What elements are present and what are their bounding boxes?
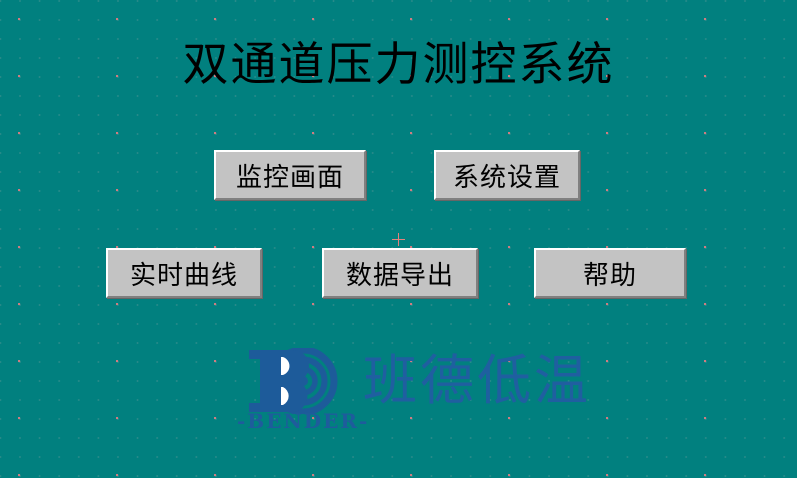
bender-b-monogram-icon bbox=[243, 348, 349, 414]
button-data-export-label: 数据导出 bbox=[346, 255, 454, 292]
button-system-settings[interactable]: 系统设置 bbox=[434, 150, 580, 200]
company-logo: -BENDER- 班德低温 bbox=[243, 348, 573, 438]
button-help[interactable]: 帮助 bbox=[534, 248, 686, 298]
button-monitor-screen[interactable]: 监控画面 bbox=[214, 150, 366, 200]
button-realtime-curve-label: 实时曲线 bbox=[130, 255, 238, 292]
company-name-cn: 班德低温 bbox=[363, 350, 591, 412]
page-title: 双通道压力测控系统 bbox=[0, 37, 797, 91]
button-system-settings-label: 系统设置 bbox=[453, 157, 561, 194]
crosshair-cursor-icon bbox=[392, 233, 405, 246]
button-monitor-screen-label: 监控画面 bbox=[236, 157, 344, 194]
button-data-export[interactable]: 数据导出 bbox=[322, 248, 478, 298]
crosshair-horizontal-bar bbox=[392, 239, 405, 240]
button-help-label: 帮助 bbox=[583, 255, 637, 292]
hmi-main-screen: 双通道压力测控系统 监控画面 系统设置 实时曲线 数据导出 帮助 bbox=[0, 0, 797, 478]
crosshair-vertical-bar bbox=[398, 233, 399, 246]
logo-wordmark: -BENDER- bbox=[237, 410, 361, 432]
button-realtime-curve[interactable]: 实时曲线 bbox=[106, 248, 262, 298]
